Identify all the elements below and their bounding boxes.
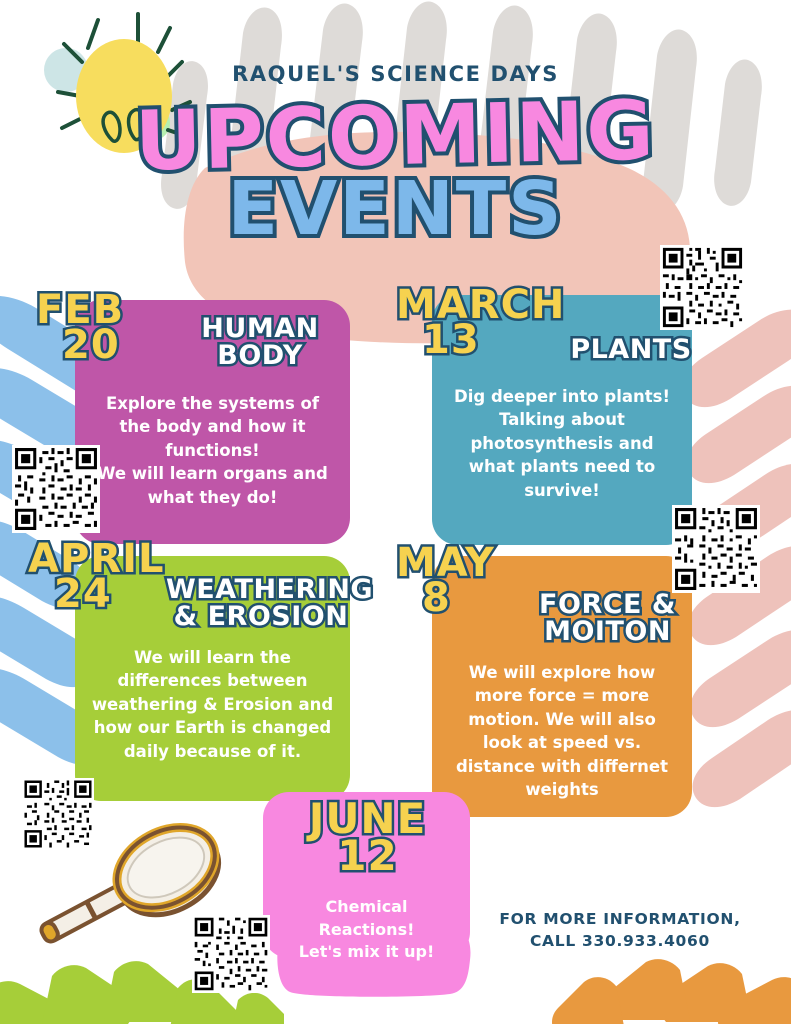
event-topic-april: WEATHERING & EROSION: [166, 576, 356, 630]
event-topic-march-line1: PLANTS: [556, 336, 706, 363]
events-grid: Explore the systems of the body and how …: [0, 283, 791, 923]
qr-code-icon[interactable]: [192, 915, 270, 993]
event-day-may: 8: [396, 581, 495, 616]
qr-code-icon[interactable]: [22, 778, 94, 850]
poster-kicker: RAQUEL'S SCIENCE DAYS: [0, 62, 791, 86]
title-line-upcoming: UPCOMING: [134, 91, 656, 184]
event-topic-may-line2: MOITON: [525, 618, 690, 645]
event-date-june: JUNE 12: [295, 801, 440, 875]
event-date-march: MARCH 13: [396, 288, 565, 358]
event-topic-april-line2: & EROSION: [166, 603, 356, 630]
contact-info: FOR MORE INFORMATION, CALL 330.933.4060: [470, 908, 770, 953]
qr-code-icon[interactable]: [660, 245, 745, 330]
contact-line-1: FOR MORE INFORMATION,: [470, 908, 770, 930]
event-date-april: APRIL 24: [28, 542, 164, 612]
event-topic-may-line1: FORCE &: [525, 591, 690, 618]
event-day-june: 12: [295, 838, 440, 875]
event-topic-march: PLANTS: [556, 336, 706, 363]
contact-line-2: CALL 330.933.4060: [470, 930, 770, 952]
qr-code-icon[interactable]: [12, 445, 100, 533]
poster-title: UPCOMING EVENTS: [0, 96, 791, 246]
event-topic-feb-line2: BODY: [185, 342, 335, 369]
event-day-march: 13: [396, 323, 565, 358]
event-topic-feb-line1: HUMAN: [185, 315, 335, 342]
qr-code-icon[interactable]: [672, 505, 760, 593]
event-day-feb: 20: [36, 328, 124, 363]
event-topic-april-line1: WEATHERING: [166, 576, 356, 603]
event-topic-feb: HUMAN BODY: [185, 315, 335, 369]
event-date-feb: FEB 20: [36, 293, 124, 363]
event-topic-may: FORCE & MOITON: [525, 591, 690, 645]
poster-header: RAQUEL'S SCIENCE DAYS UPCOMING EVENTS: [0, 0, 791, 270]
event-day-april: 24: [28, 577, 164, 612]
event-date-may: MAY 8: [396, 546, 495, 616]
orange-brush-strokes: [552, 959, 791, 1024]
